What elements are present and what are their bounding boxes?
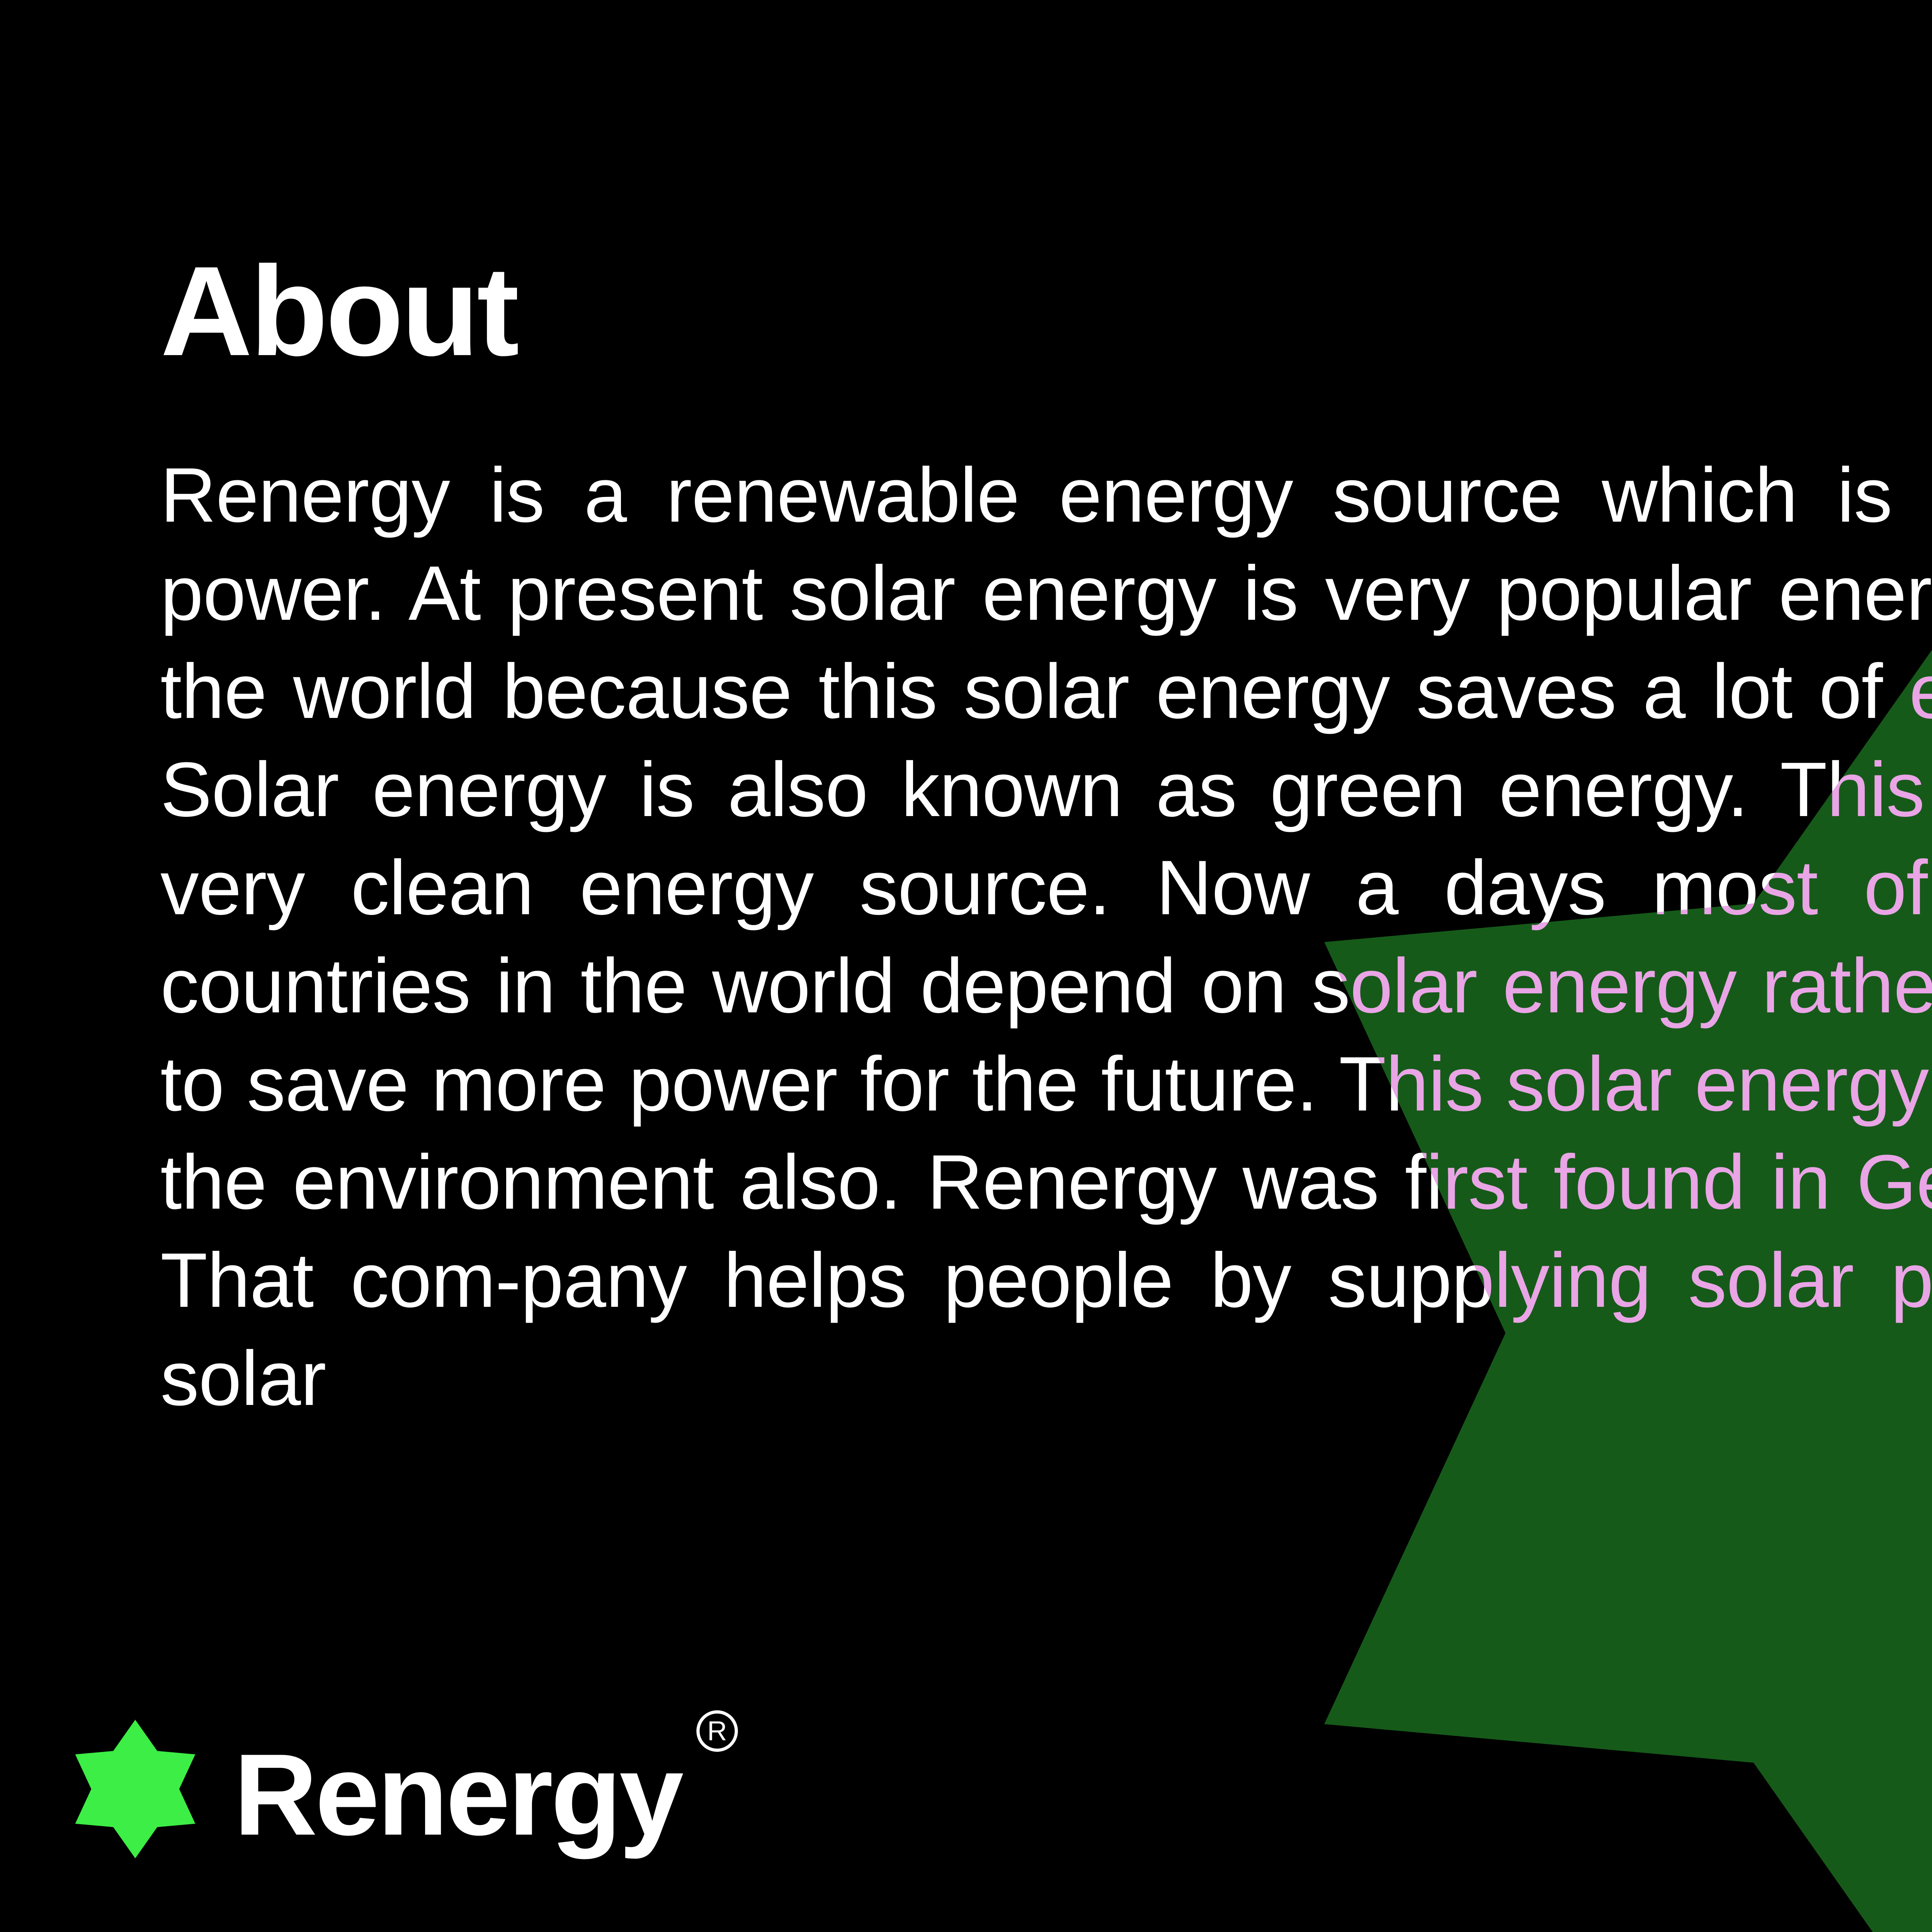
renergy-wordmark: Renergy — [234, 1736, 681, 1852]
renergy-logo[interactable]: Renergy R — [60, 1706, 740, 1872]
about-body-text: Renergy is a renewable energy source whi… — [160, 446, 1932, 1428]
page-title: About — [160, 247, 517, 375]
registered-trademark-icon: R — [694, 1708, 740, 1754]
svg-text:R: R — [707, 1716, 727, 1747]
about-paragraph: Renergy is a renewable energy source whi… — [160, 446, 1932, 1428]
renergy-pinwheel-icon — [60, 1714, 211, 1864]
slide-text-layer: About Renergy is a renewable energy sour… — [0, 0, 1932, 1932]
about-slide: About Renergy is a renewable energy sour… — [0, 0, 1932, 1932]
